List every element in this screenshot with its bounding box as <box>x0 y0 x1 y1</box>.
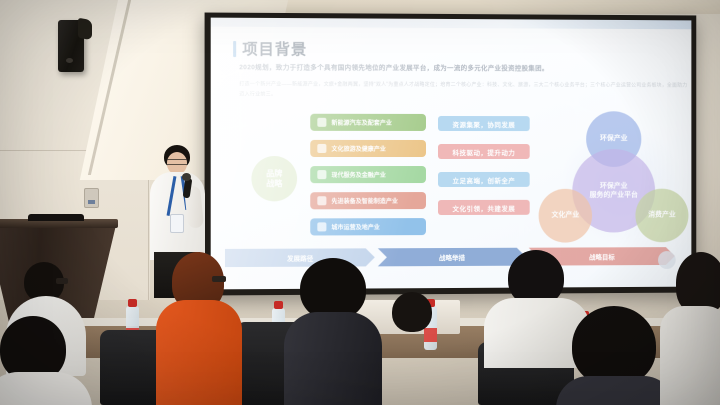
presenter-glasses-icon <box>167 159 187 165</box>
slide-top-accent-bar <box>211 18 692 30</box>
slide-decoration-circle <box>658 251 676 269</box>
attendee-torso <box>556 376 676 405</box>
roadmap-chevron-row: 发展路径 战略举措 战略目标 <box>225 247 675 267</box>
industry-venn-diagram: 环保产业 环保产业 服务的产业平台 文化产业 消费产业 <box>543 111 692 255</box>
wall-speaker-bracket <box>78 18 92 40</box>
industry-pill: 新能源汽车及配套产业 <box>310 114 426 131</box>
podium-microphone <box>28 214 84 221</box>
attendee-hair <box>300 258 366 320</box>
industry-pill: 文化旅游及健康产业 <box>310 140 426 157</box>
slide-subtitle: 2020规划，致力于打造多个具有国内领先地位的产业发展平台，成为一流的多元化产业… <box>239 62 678 76</box>
slide-title: 项目背景 <box>242 38 307 59</box>
bottle-label <box>424 328 437 342</box>
pill-icon <box>317 222 326 231</box>
brand-strategy-circle: 品牌 战略 <box>251 156 297 201</box>
attendee-torso <box>660 306 720 405</box>
pill-label: 先进装备及智能制造产业 <box>331 196 397 205</box>
pill-label: 文化旅游及健康产业 <box>331 144 385 153</box>
projection-screen-surface: 项目背景 2020规划，致力于打造多个具有国内领先地位的产业发展平台，成为一流的… <box>211 18 692 290</box>
attendee-hair <box>392 292 432 332</box>
venn-center-line1: 环保产业 <box>600 183 628 190</box>
pill-label: 新能源汽车及配套产业 <box>331 118 391 127</box>
attendee-hair <box>572 306 656 386</box>
screenshot-root: 项目背景 2020规划，致力于打造多个具有国内领先地位的产业发展平台，成为一流的… <box>0 0 720 405</box>
strategy-message-list: 资源集聚，协同发展 科技驱动，提升动力 立足高端，创新全产 文化引领，共建发展 <box>438 116 530 228</box>
venn-circle-right: 消费产业 <box>635 189 688 243</box>
strategy-message: 文化引领，共建发展 <box>438 200 530 215</box>
pill-icon <box>317 144 326 153</box>
strategy-message: 科技驱动，提升动力 <box>438 144 530 159</box>
industry-pill-list: 新能源汽车及配套产业 文化旅游及健康产业 现代服务及金融产业 先进装备及智能制造… <box>310 114 426 245</box>
presenter-badge <box>170 214 184 233</box>
slide-subtitle-secondary: 打造一个新兴产业——新能源产业，文旅+金融两翼，坚持“双人”为重点人才战略定位；… <box>239 80 688 100</box>
pill-label: 现代服务及金融产业 <box>331 170 385 179</box>
slide-title-group: 项目背景 <box>233 38 307 59</box>
projection-screen-frame: 项目背景 2020规划，致力于打造多个具有国内领先地位的产业发展平台，成为一流的… <box>205 13 697 296</box>
industry-pill: 城市运营及地产业 <box>310 218 426 235</box>
venn-center-line2: 服务的产业平台 <box>590 192 638 199</box>
attendee-torso <box>284 312 382 405</box>
bottle-cap <box>274 301 283 309</box>
pill-icon <box>317 196 326 205</box>
brand-circle-line2: 战略 <box>266 179 282 189</box>
pill-icon <box>317 118 326 127</box>
attendee-torso <box>156 300 242 405</box>
brand-circle-line1: 品牌 <box>266 169 282 179</box>
bottle-cap <box>128 299 137 307</box>
wall-speaker-port <box>66 58 73 63</box>
attendee-glasses-icon <box>212 276 226 282</box>
title-accent-bar <box>233 40 236 56</box>
microphone-head-icon <box>182 173 191 181</box>
wall-control-plate[interactable] <box>84 188 99 208</box>
industry-pill: 现代服务及金融产业 <box>310 166 426 183</box>
attendee-glasses-icon <box>56 278 68 284</box>
strategy-message: 立足高端，创新全产 <box>438 172 530 187</box>
pill-icon <box>317 170 326 179</box>
presentation-slide: 项目背景 2020规划，致力于打造多个具有国内领先地位的产业发展平台，成为一流的… <box>211 18 692 290</box>
venn-circle-left: 文化产业 <box>539 189 592 243</box>
strategy-message: 资源集聚，协同发展 <box>438 116 530 131</box>
industry-pill: 先进装备及智能制造产业 <box>310 192 426 209</box>
roadmap-chevron: 战略举措 <box>378 248 526 267</box>
attendee-hair <box>676 252 720 314</box>
pill-label: 城市运营及地产业 <box>331 222 379 231</box>
